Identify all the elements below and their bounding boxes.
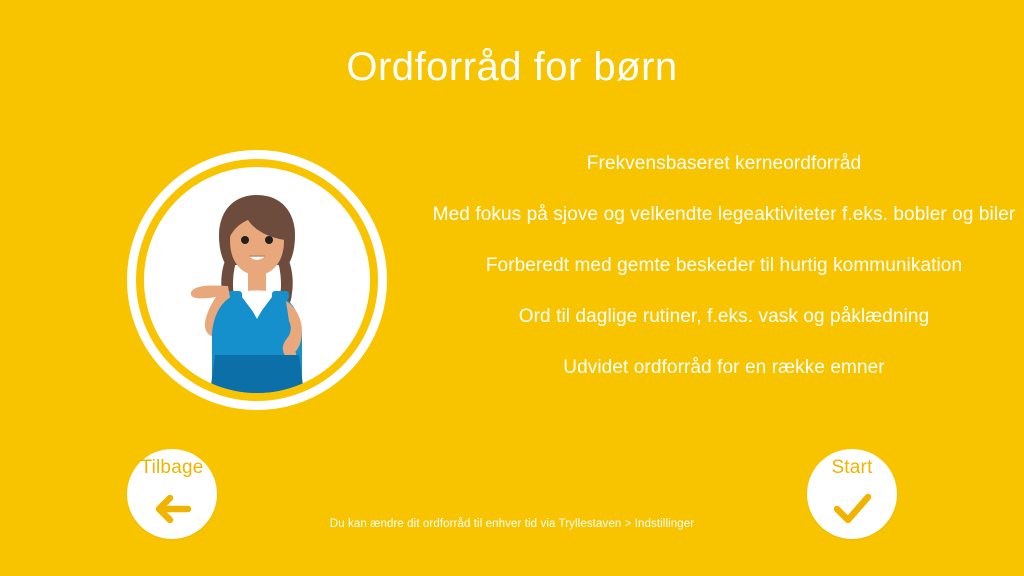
feature-item: Frekvensbaseret kerneordforråd	[424, 152, 1024, 176]
feature-item: Ord til daglige rutiner, f.eks. vask og …	[424, 305, 1024, 329]
vocabulary-setup-screen: Ordforråd for børn	[0, 0, 1024, 576]
page-title: Ordforråd for børn	[0, 40, 1024, 94]
back-button-label: Tilbage	[140, 457, 203, 479]
illustration-circle	[127, 150, 387, 410]
feature-item: Med fokus på sjove og velkendte legeakti…	[424, 203, 1024, 227]
start-button-label: Start	[831, 457, 872, 479]
illustration-disc	[144, 167, 370, 393]
feature-item: Forberedt med gemte beskeder til hurtig …	[424, 254, 1024, 278]
feature-list: Frekvensbaseret kerneordforråd Med fokus…	[424, 152, 1024, 380]
settings-hint-text: Du kan ændre dit ordforråd til enhver ti…	[0, 516, 1024, 532]
girl-character-icon	[144, 167, 370, 393]
feature-item: Udvidet ordforråd for en række emner	[424, 356, 1024, 380]
